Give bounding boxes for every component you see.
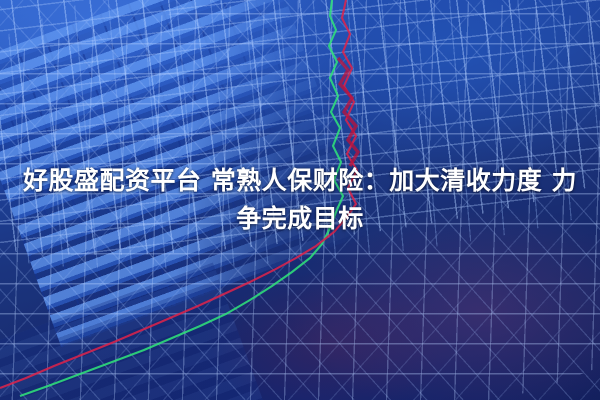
page-title: 好股盛配资平台 常熟人保财险：加大清收力度 力争完成目标 (0, 162, 600, 238)
image-canvas: 好股盛配资平台 常熟人保财险：加大清收力度 力争完成目标 (0, 0, 600, 400)
